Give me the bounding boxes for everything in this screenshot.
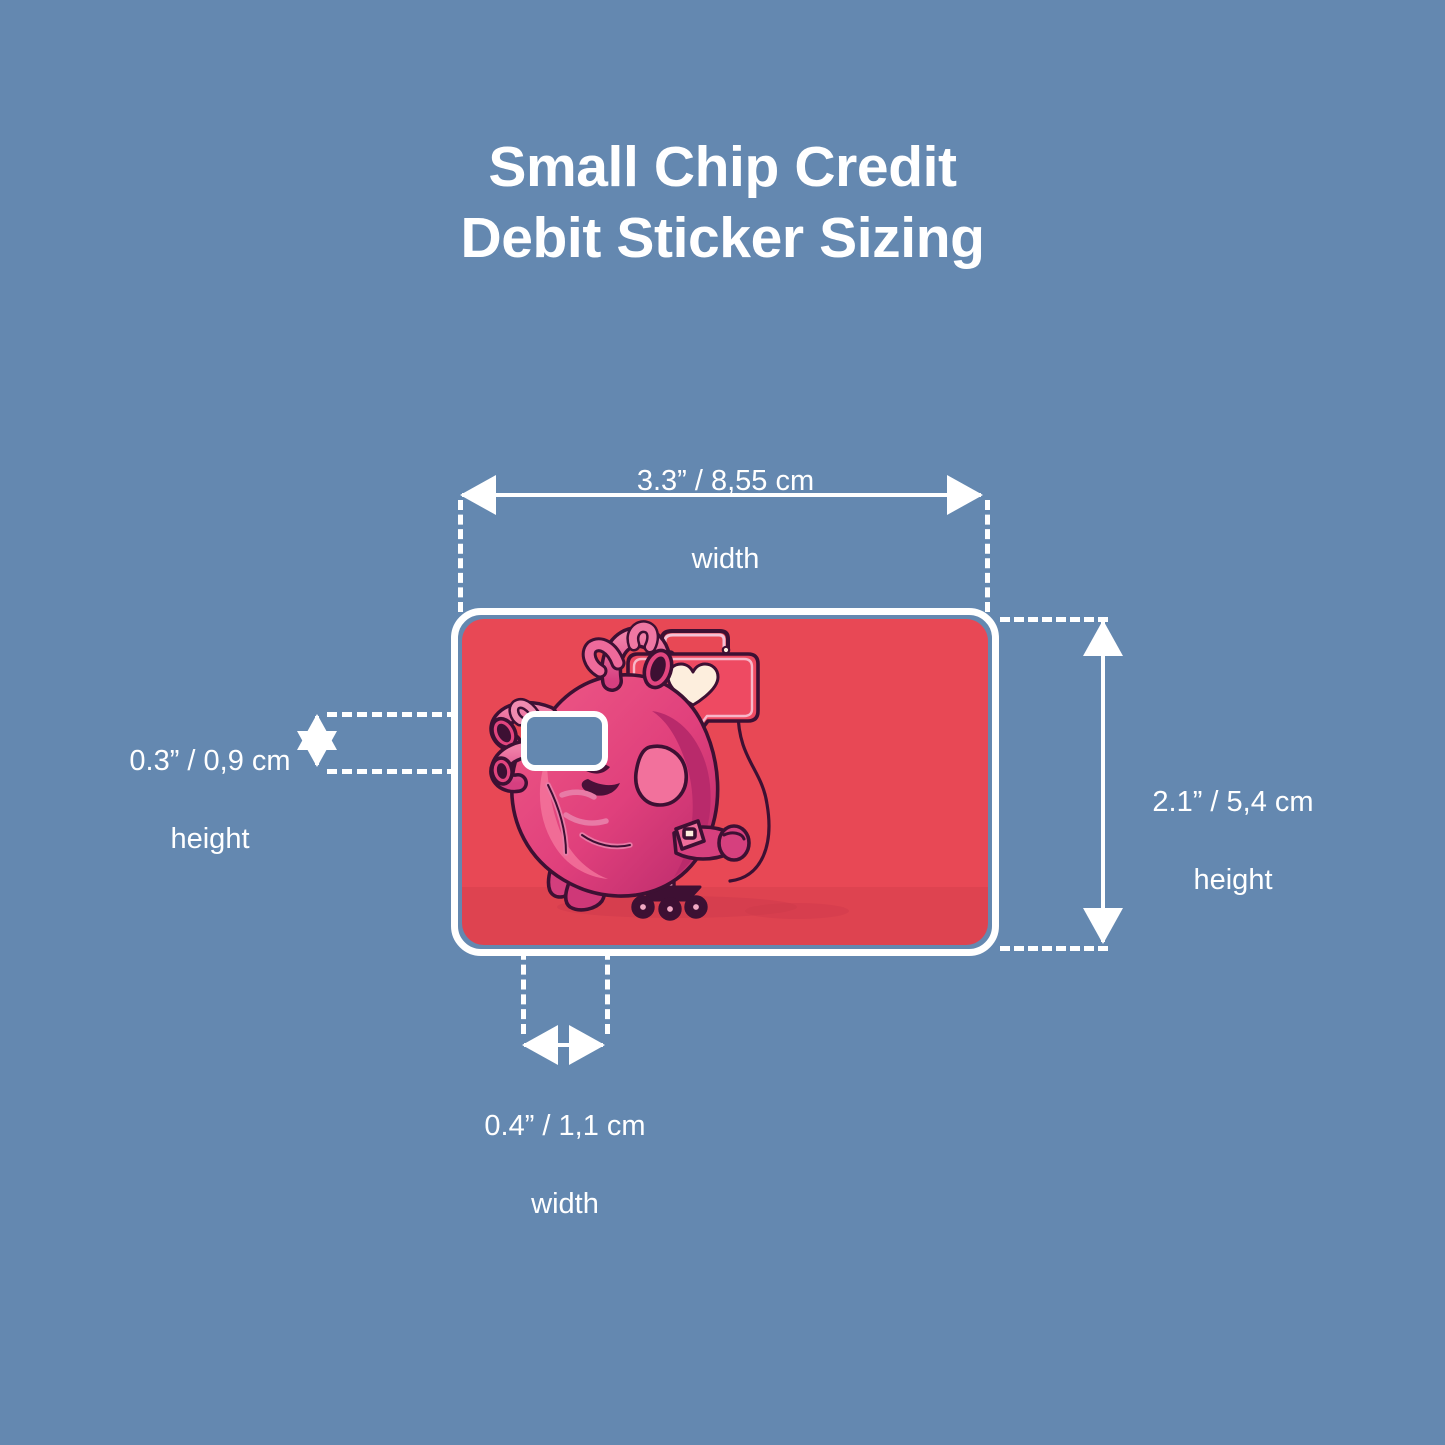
- label-chip-height: 0.3” / 0,9 cm height: [95, 703, 325, 860]
- label-card-height-value: 2.1” / 5,4 cm: [1152, 786, 1313, 818]
- label-card-width: 3.3” / 8,55 cm width: [573, 423, 878, 580]
- label-card-height: 2.1” / 5,4 cm height: [1118, 744, 1348, 901]
- label-chip-width: 0.4” / 1,1 cm width: [450, 1068, 680, 1225]
- label-chip-height-value: 0.3” / 0,9 cm: [129, 745, 290, 777]
- label-chip-width-value: 0.4” / 1,1 cm: [484, 1110, 645, 1142]
- label-chip-height-unit: height: [170, 823, 249, 855]
- label-chip-width-unit: width: [531, 1188, 599, 1220]
- label-card-width-unit: width: [692, 543, 760, 575]
- sizing-diagram: Small Chip Credit Debit Sticker Sizing: [0, 0, 1445, 1445]
- label-card-height-unit: height: [1193, 864, 1272, 896]
- label-card-width-value: 3.3” / 8,55 cm: [637, 465, 814, 497]
